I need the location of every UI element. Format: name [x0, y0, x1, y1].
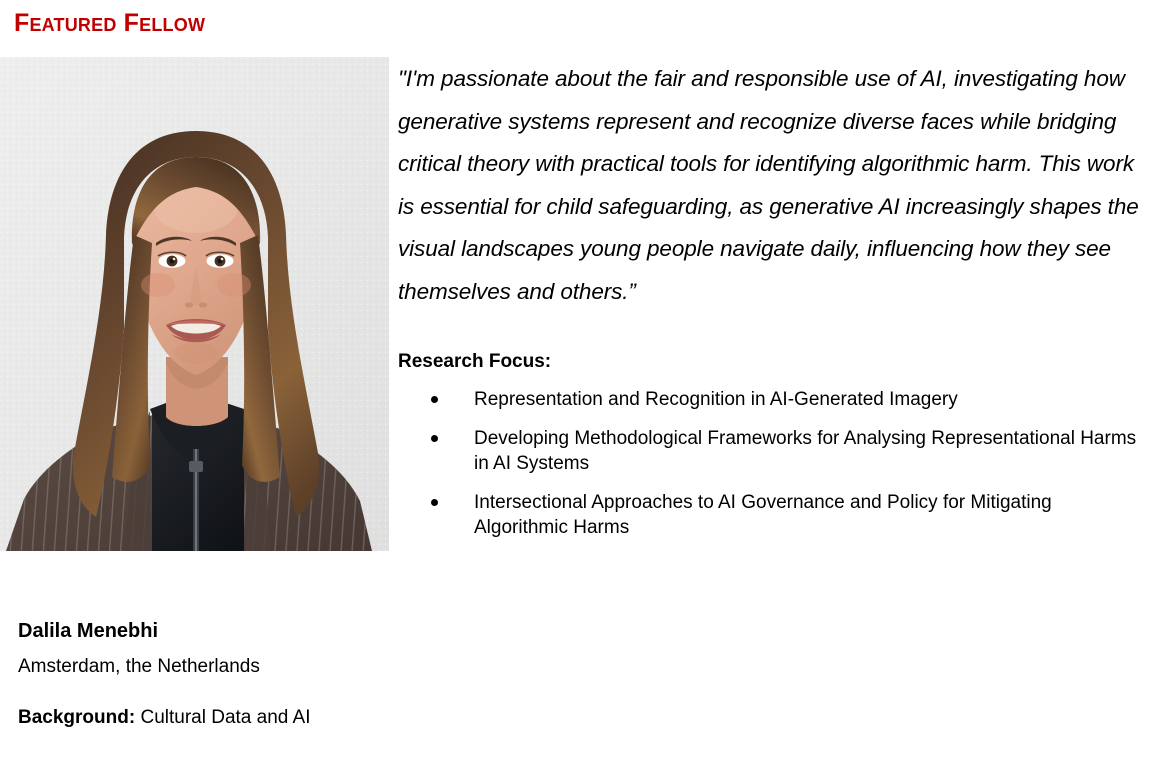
bullet-icon	[431, 499, 438, 506]
list-item: Intersectional Approaches to AI Governan…	[398, 490, 1140, 540]
fellow-quote: "I'm passionate about the fair and respo…	[398, 58, 1140, 313]
fellow-location: Amsterdam, the Netherlands	[18, 655, 260, 678]
background-value: Cultural Data and AI	[140, 707, 310, 728]
list-item-label: Intersectional Approaches to AI Governan…	[474, 492, 1052, 538]
fellow-details-column: "I'm passionate about the fair and respo…	[398, 58, 1140, 554]
list-item-label: Representation and Recognition in AI-Gen…	[474, 389, 958, 410]
bullet-icon	[431, 435, 438, 442]
background-label: Background:	[18, 707, 135, 728]
page-title: Featured Fellow	[14, 8, 205, 38]
list-item-label: Developing Methodological Frameworks for…	[474, 428, 1136, 474]
fellow-name: Dalila Menebhi	[18, 619, 158, 643]
list-item: Developing Methodological Frameworks for…	[398, 426, 1140, 476]
research-focus-heading: Research Focus:	[398, 313, 1140, 373]
research-focus-list: Representation and Recognition in AI-Gen…	[398, 373, 1140, 540]
list-item: Representation and Recognition in AI-Gen…	[398, 387, 1140, 412]
fellow-background: Background: Cultural Data and AI	[18, 706, 311, 729]
fellow-profile-column: Dalila Menebhi Amsterdam, the Netherland…	[0, 57, 389, 551]
portrait-illustration	[0, 57, 389, 551]
bullet-icon	[431, 396, 438, 403]
fellow-portrait-photo	[0, 57, 389, 551]
